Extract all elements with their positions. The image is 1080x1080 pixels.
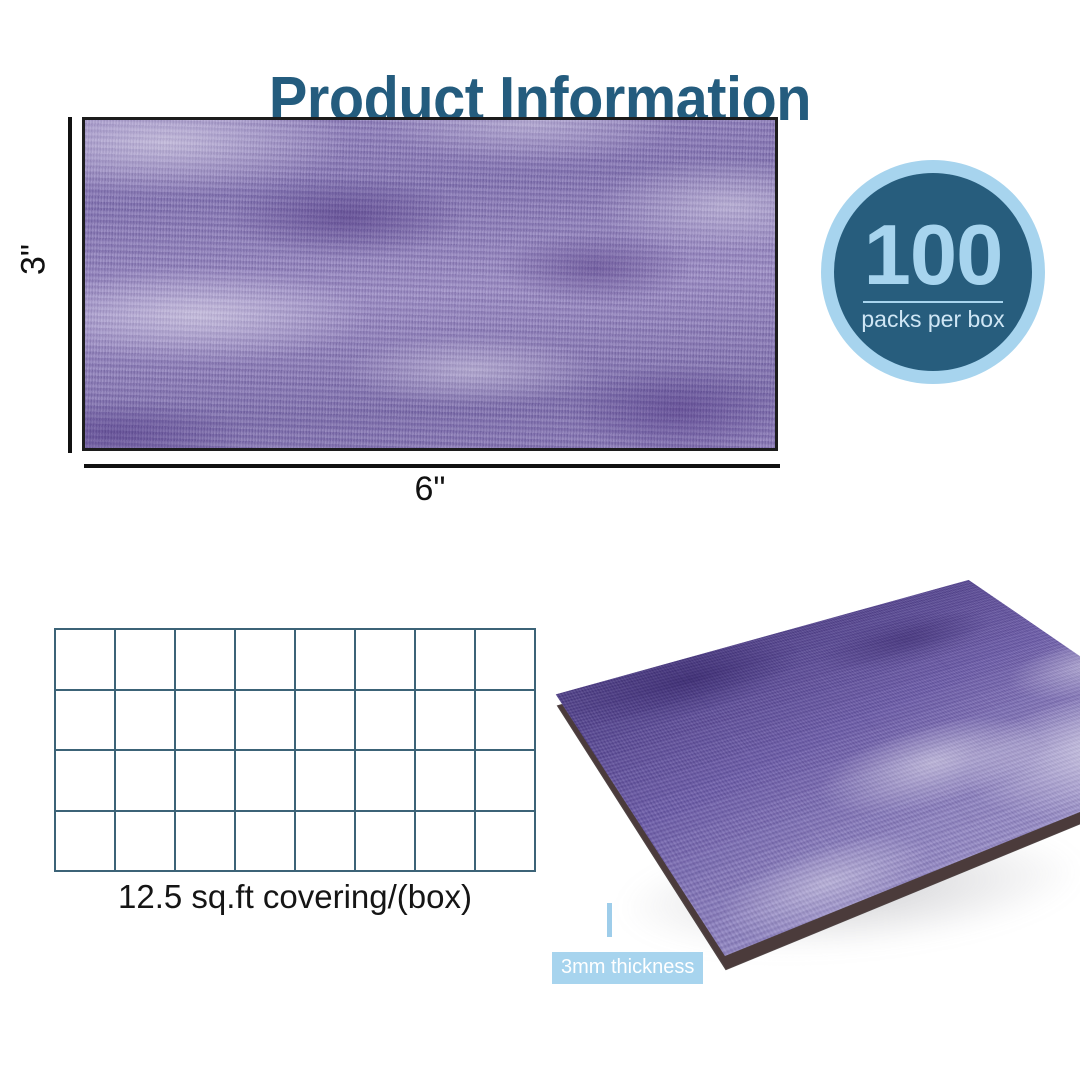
coverage-grid-cell (476, 812, 536, 873)
coverage-grid-cell (476, 630, 536, 691)
coverage-grid-cell (296, 812, 356, 873)
coverage-grid-cell (356, 751, 416, 812)
coverage-grid-cell (296, 630, 356, 691)
coverage-grid-cell (416, 691, 476, 752)
coverage-grid-cell (296, 751, 356, 812)
coverage-grid-cell (56, 691, 116, 752)
felt-texture (82, 117, 778, 451)
coverage-grid-cell (236, 812, 296, 873)
coverage-grid-cell (116, 812, 176, 873)
coverage-grid-cell (116, 751, 176, 812)
coverage-grid-cell (236, 630, 296, 691)
swatch-tile-image (82, 117, 778, 451)
coverage-grid-cell (476, 751, 536, 812)
coverage-grid-cell (176, 630, 236, 691)
tile-3d-view (596, 500, 1080, 1000)
coverage-grid-cell (476, 691, 536, 752)
coverage-caption: 12.5 sq.ft covering/(box) (54, 878, 536, 916)
badge-count: 100 (864, 219, 1003, 294)
coverage-grid-cell (356, 691, 416, 752)
thickness-label: 3mm thickness (552, 952, 703, 984)
coverage-grid-cell (296, 691, 356, 752)
coverage-grid-cell (416, 812, 476, 873)
coverage-grid-cell (176, 812, 236, 873)
coverage-grid-cell (236, 751, 296, 812)
coverage-grid-cell (116, 691, 176, 752)
coverage-grid-cell (416, 630, 476, 691)
coverage-grid-cell (356, 630, 416, 691)
badge-caption: packs per box (861, 308, 1004, 331)
coverage-grid-cell (56, 751, 116, 812)
packs-per-box-badge: 100 packs per box (821, 160, 1045, 384)
width-dimension-line (84, 464, 780, 468)
coverage-grid (54, 628, 536, 872)
coverage-grid-cell (236, 691, 296, 752)
height-dimension-line (68, 117, 72, 453)
coverage-grid-cell (56, 630, 116, 691)
coverage-grid-cell (176, 691, 236, 752)
coverage-grid-cell (56, 812, 116, 873)
thickness-leader-line (607, 903, 612, 937)
height-dimension-label: 3" (15, 230, 54, 290)
width-dimension-label: 6" (330, 470, 530, 509)
coverage-grid-cell (356, 812, 416, 873)
badge-divider (863, 301, 1003, 303)
product-swatch (82, 117, 778, 451)
coverage-grid-cell (176, 751, 236, 812)
coverage-grid-cell (116, 630, 176, 691)
badge-inner-circle: 100 packs per box (834, 173, 1032, 371)
coverage-grid-cell (416, 751, 476, 812)
